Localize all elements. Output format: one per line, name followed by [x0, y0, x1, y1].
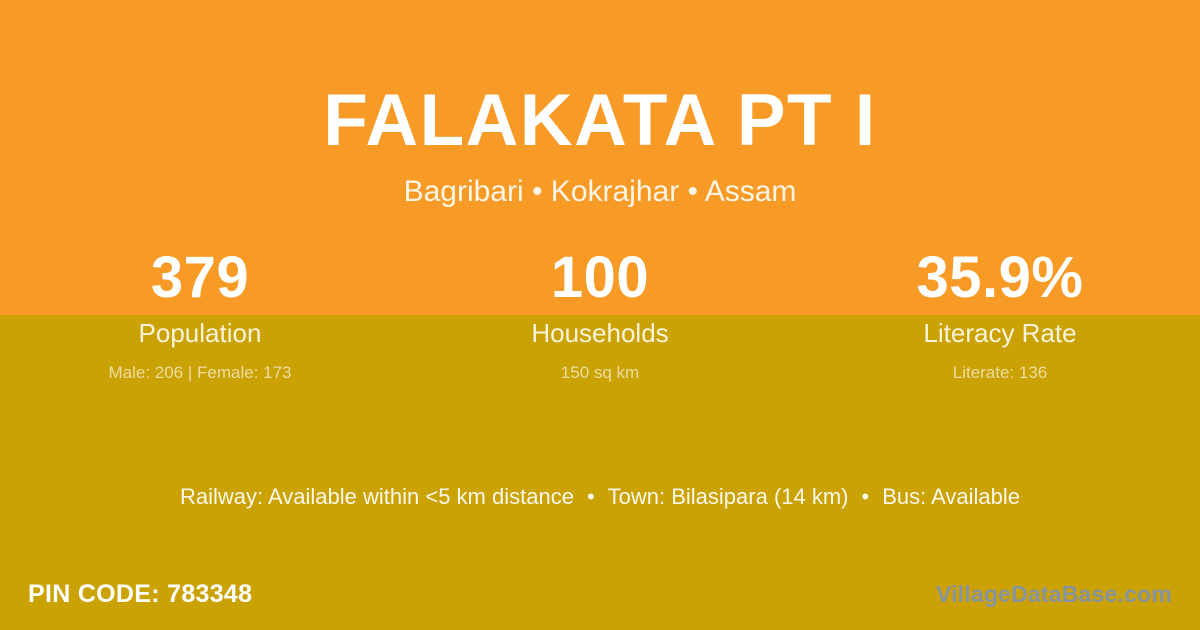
stat-value: 379 — [0, 240, 400, 316]
stat-label: Population — [0, 316, 400, 346]
stat-value: 35.9% — [800, 240, 1200, 316]
bullet-separator: • — [849, 486, 883, 508]
bullet-separator: • — [574, 486, 608, 508]
card-footer: PIN CODE: 783348 VillageDataBase.com — [0, 558, 1200, 630]
stat-label: Literacy Rate — [800, 316, 1200, 346]
stat-label: Households — [400, 316, 800, 346]
card-header: FALAKATA PT I Bagribari • Kokrajhar • As… — [0, 0, 1200, 207]
village-info-card: FALAKATA PT I Bagribari • Kokrajhar • As… — [0, 0, 1200, 630]
stat-sublabel: Male: 206 | Female: 173 — [0, 346, 400, 381]
location-breadcrumb: Bagribari • Kokrajhar • Assam — [0, 157, 1200, 207]
amenities-line: Railway: Available within <5 km distance… — [0, 486, 1200, 508]
stat-households: 100 Households 150 sq km — [400, 240, 800, 381]
stat-literacy-rate: 35.9% Literacy Rate Literate: 136 — [800, 240, 1200, 381]
amenity-town: Town: Bilasipara (14 km) — [608, 484, 849, 509]
stat-sublabel: 150 sq km — [400, 346, 800, 381]
amenity-railway: Railway: Available within <5 km distance — [180, 484, 574, 509]
stat-sublabel: Literate: 136 — [800, 346, 1200, 381]
stat-population: 379 Population Male: 206 | Female: 173 — [0, 240, 400, 381]
site-brand: VillageDataBase.com — [936, 583, 1172, 606]
stat-value: 100 — [400, 240, 800, 316]
amenity-bus: Bus: Available — [882, 484, 1020, 509]
village-title: FALAKATA PT I — [0, 0, 1200, 157]
stats-row: 379 Population Male: 206 | Female: 173 1… — [0, 240, 1200, 381]
pin-code: PIN CODE: 783348 — [28, 582, 252, 607]
